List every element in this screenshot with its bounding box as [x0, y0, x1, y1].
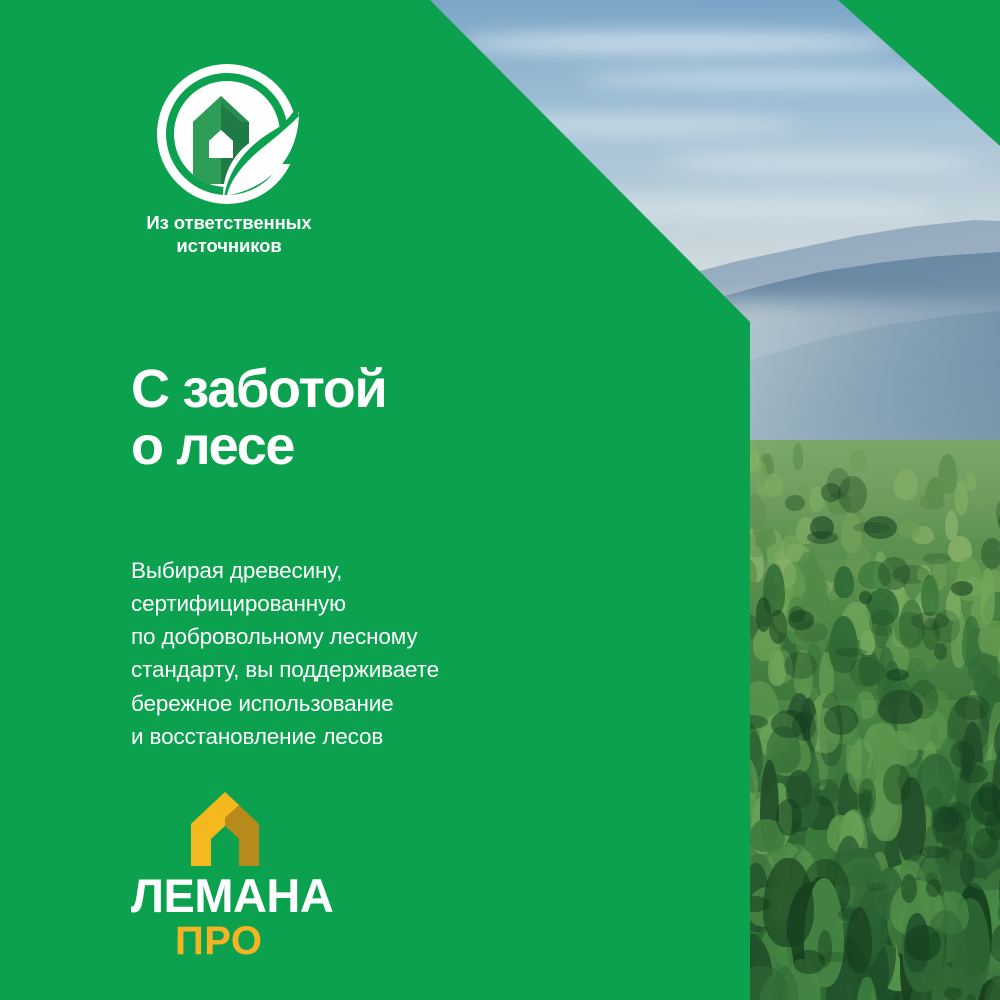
responsible-sources-emblem-icon [153, 60, 301, 208]
eco-badge-caption: Из ответственных источников [104, 212, 354, 257]
brand-subname: ПРО [175, 921, 391, 961]
page-title: С заботой о лесе [131, 361, 386, 475]
content-layer: Из ответственных источников С заботой о … [0, 0, 1000, 1000]
brand-lockup: ЛЕМАНА ПРО [131, 790, 391, 961]
brand-name: ЛЕМАНА [131, 872, 391, 919]
lemana-house-icon [173, 790, 277, 868]
body-copy: Выбирая древесину, сертифицированную по … [131, 554, 439, 754]
promo-banner: Из ответственных источников С заботой о … [0, 0, 1000, 1000]
